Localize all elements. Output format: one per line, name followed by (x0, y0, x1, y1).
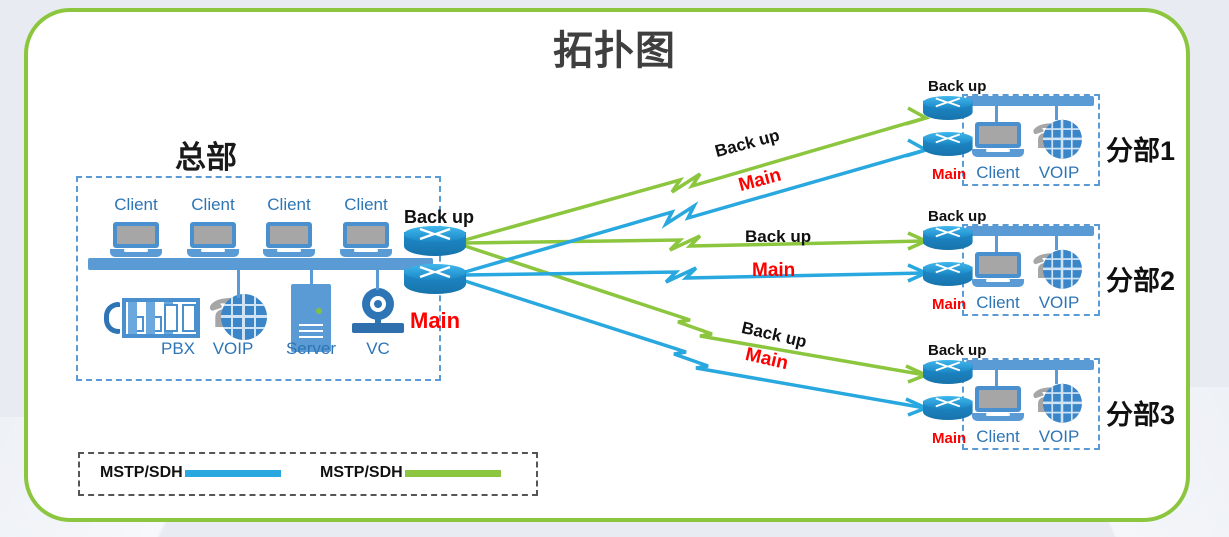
hq-client-2[interactable] (187, 222, 239, 260)
hq-client-3-label: Client (265, 196, 313, 213)
router-icon (404, 226, 466, 262)
laptop-icon (972, 252, 1024, 290)
hq-server-label: Server (284, 340, 338, 357)
legend-label-main: MSTP/SDH (100, 464, 183, 482)
laptop-icon (340, 222, 392, 260)
branch-3-voip[interactable]: ☎ (1031, 382, 1082, 426)
branch-1-main-router[interactable] (923, 132, 973, 161)
voip-globe-icon: ☎ (1031, 382, 1082, 426)
hq-client-1-stem (135, 258, 138, 264)
hq-client-1[interactable] (110, 222, 162, 260)
router-icon (923, 226, 973, 255)
branch-2-voip-label: VOIP (1038, 294, 1080, 311)
hq-backup-router-label: Back up (404, 207, 474, 228)
router-icon (923, 396, 973, 425)
hq-pbx-label: PBX (148, 340, 208, 357)
voip-globe-icon: ☎ (1031, 248, 1082, 292)
headquarters-title: 总部 (175, 132, 237, 177)
branch-1-client[interactable] (972, 122, 1024, 160)
router-icon (923, 360, 973, 389)
hq-voip-label: VOIP (212, 340, 254, 357)
router-icon (923, 262, 973, 291)
hq-main-router-tag: Main (410, 308, 460, 334)
branch-2-client-label: Client (974, 294, 1022, 311)
hq-client-2-label: Client (189, 196, 237, 213)
branch-2-main-router[interactable] (923, 262, 973, 291)
branch-2-backup-label: Back up (928, 208, 986, 225)
branch-2-name: 分部2 (1106, 259, 1175, 298)
laptop-icon (110, 222, 162, 260)
voip-globe-icon: ☎ (207, 292, 267, 344)
legend-swatch-main (185, 470, 281, 477)
hq-voip-stem (237, 266, 240, 298)
router-arrows-icon (934, 133, 961, 144)
hq-client-1-label: Client (112, 196, 160, 213)
hq-client-3-stem (288, 258, 291, 264)
branch-1-voip-label: VOIP (1038, 164, 1080, 181)
branch-3-backup-router[interactable] (923, 360, 973, 389)
legend-label-backup: MSTP/SDH (320, 464, 403, 482)
branch-1-client-label: Client (974, 164, 1022, 181)
hq-client-4[interactable] (340, 222, 392, 260)
router-arrows-icon (934, 361, 961, 372)
hq-vc-stem (376, 266, 379, 290)
branch-3-name: 分部3 (1106, 393, 1175, 432)
branch-1-backup-router[interactable] (923, 96, 973, 125)
hq-client-2-stem (212, 258, 215, 264)
hq-vc[interactable] (352, 288, 404, 336)
router-arrows-icon (418, 227, 452, 241)
router-icon (404, 264, 466, 300)
router-arrows-icon (934, 97, 961, 108)
branch-2-client[interactable] (972, 252, 1024, 290)
router-icon (923, 132, 973, 161)
topology-diagram: 拓扑图 总部 (0, 0, 1229, 537)
branch-1-backup-label: Back up (928, 78, 986, 95)
main-link-branch3 (465, 281, 925, 408)
laptop-icon (972, 386, 1024, 424)
branch-2-lan-bus (966, 226, 1094, 236)
router-arrows-icon (418, 265, 452, 279)
link-label-backup-branch2: Back up (745, 227, 811, 247)
branch-1-name: 分部1 (1106, 129, 1175, 168)
branch-3-voip-label: VOIP (1038, 428, 1080, 445)
branch-3-lan-bus (966, 360, 1094, 370)
branch-1-voip[interactable]: ☎ (1031, 118, 1082, 162)
backup-link-branch1 (465, 118, 925, 240)
branch-3-main-router[interactable] (923, 396, 973, 425)
branch-3-backup-label: Back up (928, 342, 986, 359)
router-arrows-icon (934, 397, 961, 408)
laptop-icon (972, 122, 1024, 160)
router-arrows-icon (934, 263, 961, 274)
router-arrows-icon (934, 227, 961, 238)
legend: MSTP/SDH MSTP/SDH (78, 452, 538, 496)
legend-item-backup: MSTP/SDH (320, 464, 501, 482)
hq-pbx[interactable] (104, 296, 200, 340)
branch-2-voip[interactable]: ☎ (1031, 248, 1082, 292)
branch-3-main-tag: Main (932, 430, 966, 447)
router-icon (923, 96, 973, 125)
hq-voip[interactable]: ☎ (207, 292, 267, 344)
voip-globe-icon: ☎ (1031, 118, 1082, 162)
branch-2-main-tag: Main (932, 296, 966, 313)
laptop-icon (263, 222, 315, 260)
backup-link-branch3 (465, 246, 925, 375)
backup-link-branch2 (465, 236, 925, 250)
legend-item-main: MSTP/SDH (100, 464, 281, 482)
branch-3-client-label: Client (974, 428, 1022, 445)
branch-1-main-tag: Main (932, 166, 966, 183)
video-camera-icon (352, 288, 404, 336)
main-link-branch1 (465, 150, 925, 272)
legend-swatch-backup (405, 470, 501, 477)
branch-2-backup-router[interactable] (923, 226, 973, 255)
pbx-icon (104, 296, 200, 340)
branch-3-client[interactable] (972, 386, 1024, 424)
hq-vc-label: VC (358, 340, 398, 357)
laptop-icon (187, 222, 239, 260)
hq-server-stem (310, 266, 313, 286)
hq-main-router[interactable] (404, 264, 466, 300)
hq-client-4-stem (365, 258, 368, 264)
branch-1-lan-bus (966, 96, 1094, 106)
hq-client-4-label: Client (342, 196, 390, 213)
link-label-main-branch2: Main (752, 260, 795, 282)
hq-backup-router[interactable] (404, 226, 466, 262)
hq-client-3[interactable] (263, 222, 315, 260)
